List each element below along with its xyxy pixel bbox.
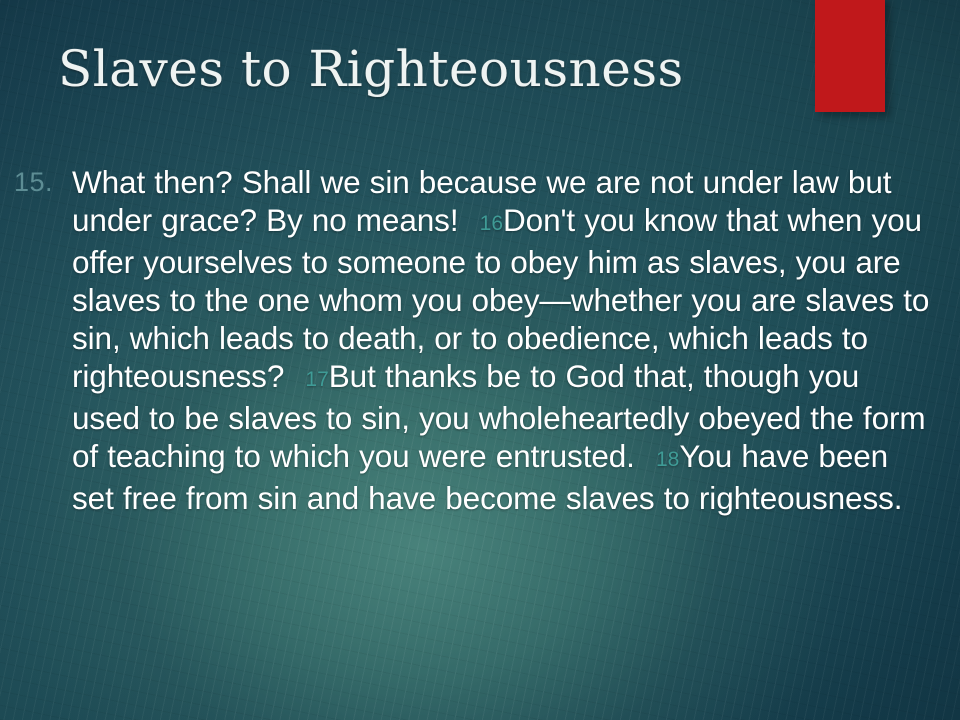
- numbered-list-item: 15. What then? Shall we sin because we a…: [14, 163, 936, 517]
- list-marker: 15.: [14, 163, 72, 201]
- presentation-slide: Slaves to Righteousness 15. What then? S…: [0, 0, 960, 720]
- scripture-passage: What then? Shall we sin because we are n…: [72, 163, 936, 517]
- body-content: 15. What then? Shall we sin because we a…: [14, 163, 936, 517]
- verse-number: 18: [644, 448, 679, 471]
- verse-number: 16: [468, 212, 503, 235]
- red-accent-block: [815, 0, 885, 112]
- slide-title: Slaves to Righteousness: [58, 40, 798, 99]
- verse-number: 17: [293, 368, 328, 391]
